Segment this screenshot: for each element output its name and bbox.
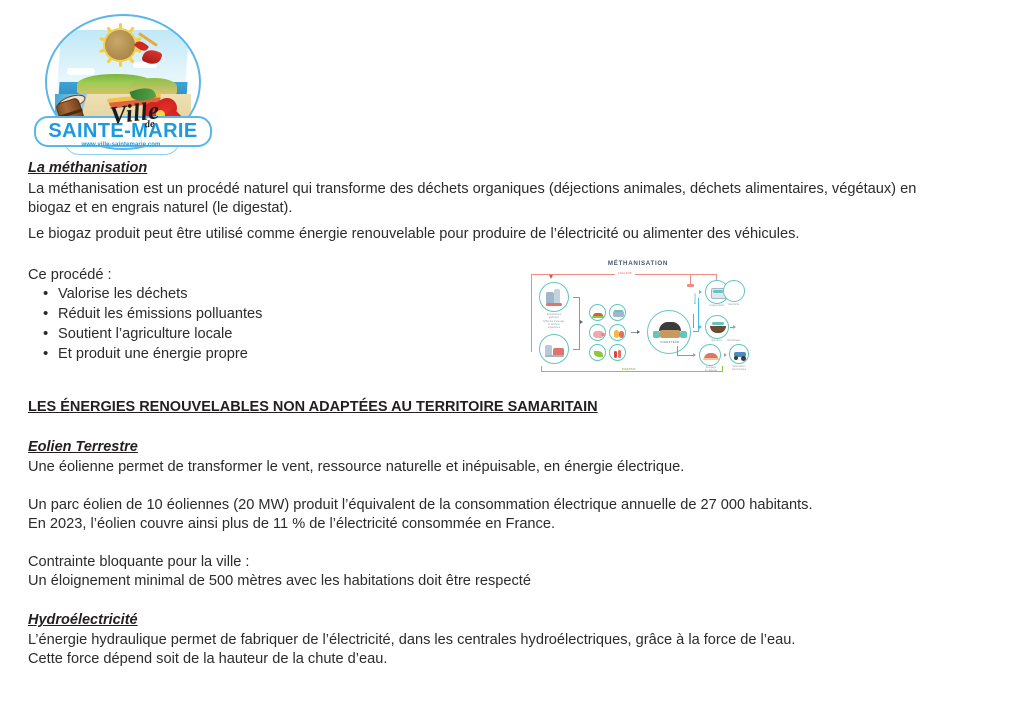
heading-hydroelectricite: Hydroélectricité [28, 611, 138, 629]
paragraph-parc-eolien: Un parc éolien de 10 éoliennes (20 MW) p… [28, 496, 988, 535]
heading-energies-non-adaptees: LES ÉNERGIES RENOUVELABLES NON ADAPTÉES … [28, 398, 598, 416]
text-line: biogaz et en engrais naturel (le digesta… [28, 199, 988, 218]
diagram-input-icon-4 [609, 324, 626, 341]
diagram-node-label-biomethane: Biométhane [717, 340, 751, 343]
text-line: Une éolienne permet de transformer le ve… [28, 458, 988, 477]
logo-de-word: de [144, 119, 155, 131]
diagram-node-digesteur: DIGESTEUR [647, 310, 691, 354]
flow-arrow-icon [693, 353, 696, 357]
manure-icon [592, 316, 604, 318]
diagram-input-icon-5 [589, 344, 606, 361]
diagram-node-stockage [699, 344, 721, 366]
logo-url-text: www.ville-saintemarie.com [28, 142, 214, 148]
list-item: Réduit les émissions polluantes [58, 305, 262, 325]
digester-tank-icon [680, 331, 687, 338]
factory-icon [546, 303, 562, 306]
connector-line [693, 314, 694, 328]
list-item: Et produit une énergie propre [58, 345, 262, 365]
flow-arrow-icon [580, 320, 583, 324]
diagram-input-icon-1 [589, 304, 606, 321]
diagram-input-icon-6 [609, 344, 626, 361]
diagram-node-label-exploitations: Exploitationsagricoles [531, 314, 577, 320]
diagram-node-valorisation [729, 344, 749, 364]
diagram-title: MÉTHANISATION [527, 260, 749, 267]
text-line: Le biogaz produit peut être utilisé comm… [28, 225, 988, 244]
flow-arrow-icon [637, 330, 640, 334]
list-item: Valorise les déchets [58, 285, 262, 305]
text-line: Un éloignement minimal de 500 mètres ave… [28, 572, 988, 591]
diagram-input-icon-3 [589, 324, 606, 341]
diagram-flow-label-digestat: DIGESTAT [619, 368, 639, 371]
diagram-edge-label-biogaz: BIOGAZ [694, 293, 697, 304]
sun-icon [105, 30, 135, 60]
diagram-node-label-valorisation: Valorisationagronomique [723, 366, 755, 372]
pig-icon [601, 333, 605, 336]
text-line: Cette force dépend soit de la hauteur de… [28, 650, 988, 669]
ville-sainte-marie-logo: SAINTE-MARIE Ville de www.ville-saintema… [28, 12, 214, 152]
crop-icon [618, 350, 621, 358]
digester-body-icon [660, 330, 680, 338]
heat-connector [687, 284, 694, 287]
paragraph-methanisation-definition: La méthanisation est un procédé naturel … [28, 180, 988, 219]
digester-tank-icon [653, 331, 660, 338]
factory-icon [554, 289, 560, 304]
diagram-flow-label-chaleur: CHALEUR [615, 272, 635, 275]
text-line: L’énergie hydraulique permet de fabrique… [28, 631, 988, 650]
flow-arrow-icon [699, 290, 702, 294]
storage-icon [703, 358, 719, 360]
heat-arrow-icon [549, 275, 553, 279]
flow-arrow-icon [699, 325, 702, 329]
plant-waste-icon [594, 351, 603, 357]
document-page: SAINTE-MARIE Ville de www.ville-saintema… [0, 0, 1024, 724]
diagram-node-epuration [705, 315, 729, 339]
text-line: Contrainte bloquante pour la ville : [28, 553, 988, 572]
sludge-icon [614, 310, 623, 312]
tractor-icon [734, 356, 738, 360]
paragraph-hydroelectricite: L’énergie hydraulique permet de fabrique… [28, 631, 988, 670]
text-line: La méthanisation est un procédé naturel … [28, 180, 988, 199]
cogeneration-icon [713, 290, 723, 293]
epuration-icon [712, 322, 724, 325]
diagram-center-label: DIGESTEUR [648, 341, 692, 344]
epuration-icon [710, 326, 726, 333]
list-intro-ce-procede: Ce procédé : [28, 266, 112, 285]
list-item: Soutient l’agriculture locale [58, 325, 262, 345]
methanisation-diagram: MÉTHANISATION CHALEUR DIGESTAT Exploitat… [527, 258, 749, 382]
paragraph-contrainte-bloquante: Contrainte bloquante pour la ville : Un … [28, 553, 988, 592]
cloud-icon [67, 68, 95, 75]
heat-flow-pipe-left [531, 274, 532, 352]
diagram-node-label-industries: Effluents d’élevageet déchetsorganiques [529, 321, 579, 330]
flow-arrow-icon [733, 325, 736, 329]
diagram-node-label-electricite: Électricité [717, 304, 751, 307]
diagram-input-icon-2 [609, 304, 626, 321]
diagram-node-exploitations [539, 282, 569, 312]
industry-icon [545, 355, 564, 357]
heading-la-methanisation: La méthanisation [28, 159, 147, 177]
text-line: En 2023, l’éolien couvre ainsi plus de 1… [28, 515, 988, 534]
paragraph-eolienne-definition: Une éolienne permet de transformer le ve… [28, 458, 988, 477]
food-waste-icon [619, 331, 624, 338]
diagram-node-electricite [723, 280, 745, 302]
heliconia-flower-icon [133, 36, 165, 70]
crop-icon [614, 351, 617, 358]
text-line: Un parc éolien de 10 éoliennes (20 MW) p… [28, 496, 988, 515]
diagram-node-industries [539, 334, 569, 364]
benefits-list: Valorise les déchets Réduit les émission… [28, 285, 262, 365]
heading-eolien-terrestre: Eolien Terrestre [28, 438, 138, 456]
paragraph-biogaz-usage: Le biogaz produit peut être utilisé comm… [28, 225, 988, 244]
tractor-icon [741, 356, 746, 361]
flow-arrow-icon [724, 353, 727, 357]
